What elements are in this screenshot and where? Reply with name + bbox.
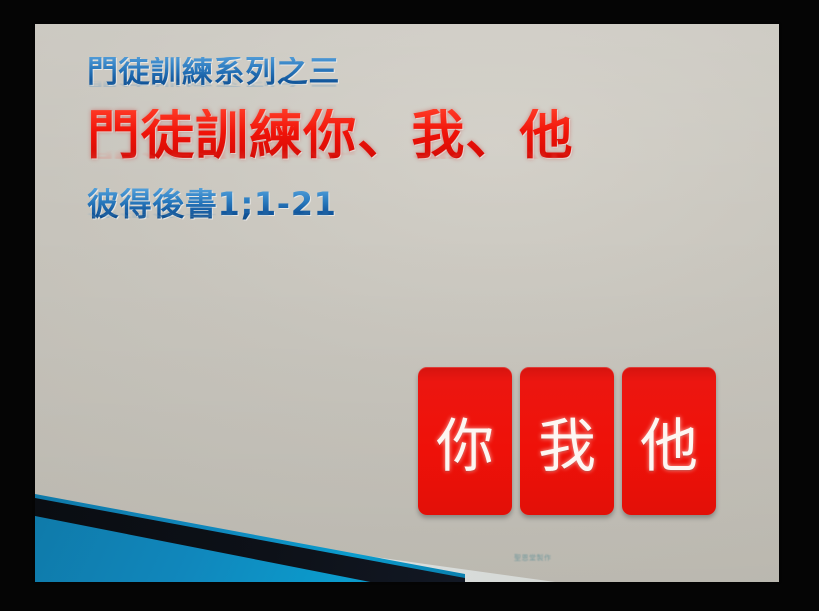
page-title-reflection: 門徒訓練你、我、他 [87, 146, 727, 159]
character-card-you: 你 [418, 367, 512, 515]
series-subtitle-reflection: 門徒訓練系列之三 [87, 77, 727, 87]
scripture-reference-reflection: 彼得後書1;1-21 [87, 206, 727, 218]
character-card-label: 你 [436, 399, 494, 483]
presentation-slide: 門徒訓練系列之三 門徒訓練系列之三 門徒訓練你、我、他 門徒訓練你、我、他 彼得… [35, 24, 779, 582]
slide-title-block: 門徒訓練系列之三 門徒訓練系列之三 門徒訓練你、我、他 門徒訓練你、我、他 彼得… [87, 57, 727, 240]
character-card-label: 他 [640, 399, 698, 483]
character-card-group: 你 我 他 [418, 367, 716, 515]
character-card-label: 我 [538, 399, 596, 483]
footer-watermark: 聖恩堂製作 [514, 553, 552, 563]
video-frame: 門徒訓練系列之三 門徒訓練系列之三 門徒訓練你、我、他 門徒訓練你、我、他 彼得… [0, 0, 819, 611]
character-card-me: 我 [520, 367, 614, 515]
character-card-him: 他 [622, 367, 716, 515]
